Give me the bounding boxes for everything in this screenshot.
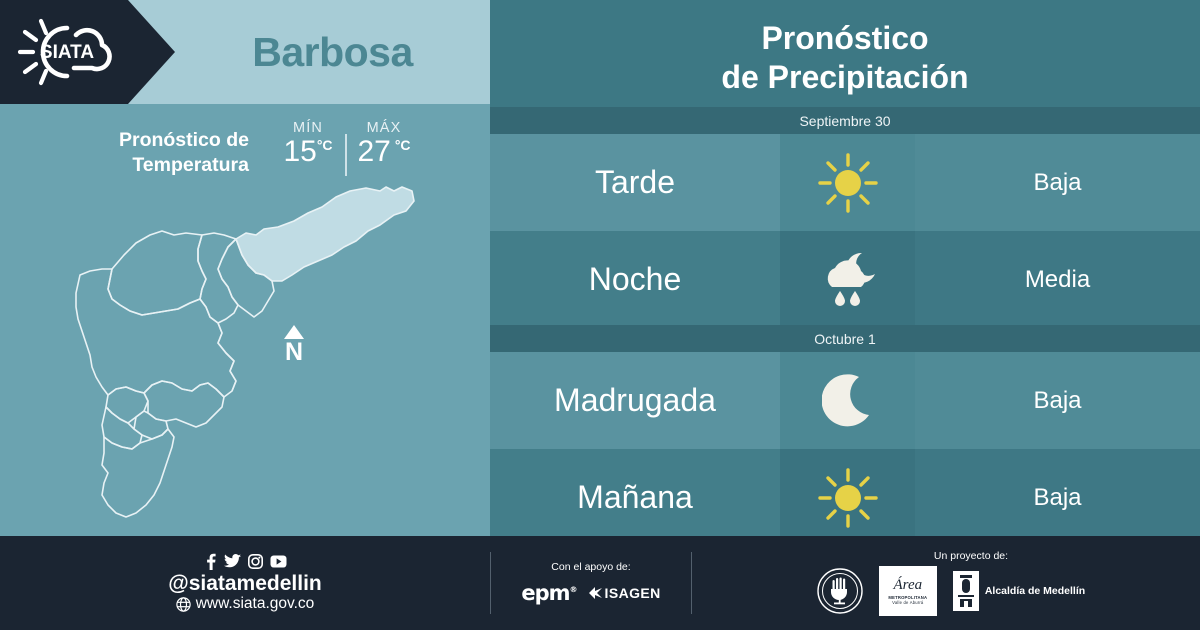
project-caption: Un proyecto de: [934, 550, 1008, 562]
siata-logo-icon: SIATA [14, 15, 122, 89]
temperature-max-value: 27°C [347, 137, 421, 167]
north-arrow-triangle-icon [284, 325, 304, 339]
epm-logo: epm® [521, 581, 576, 605]
youtube-icon[interactable] [270, 555, 287, 568]
map-svg [50, 185, 450, 535]
map-region-envigado [144, 381, 224, 427]
precipitation-title: Pronóstico de Precipitación [490, 10, 1200, 106]
forecast-row-madrugada: Madrugada Baja [490, 352, 1200, 449]
temperature-max-label: MÁX [347, 120, 421, 136]
support-block: Con el apoyo de: epm® ISAGEN [491, 536, 691, 630]
forecast-row-tarde: Tarde Baja [490, 134, 1200, 231]
area-logo-script: Área [894, 578, 923, 593]
map-region-barbosa [236, 187, 414, 281]
weather-forecast-poster: SIATA Barbosa Pronóstico de Temperatura … [0, 0, 1200, 630]
temperature-min-label: MÍN [271, 120, 345, 136]
temperature-title-line1: Pronóstico de [119, 129, 249, 151]
instagram-icon[interactable] [248, 554, 263, 569]
map-region-itagui [106, 387, 148, 423]
city-header: SIATA Barbosa [0, 0, 490, 104]
temperature-max-number: 27 [357, 135, 390, 168]
siata-brand-block: SIATA [0, 0, 175, 104]
temperature-max-unit: °C [395, 137, 411, 153]
project-logos: Área METROPOLITANA Valle de Aburrá [817, 566, 1085, 616]
page-title: Barbosa [175, 0, 490, 104]
temperature-title-line2: Temperatura [132, 154, 249, 176]
temperature-max: MÁX 27°C [347, 120, 421, 167]
alcaldia-logo-text: Alcaldía de Medellín [985, 585, 1085, 597]
temperature-values: MÍN 15°C MÁX 27°C [271, 118, 421, 176]
forecast-probability: Media [915, 231, 1200, 328]
temperature-min-value: 15°C [271, 137, 345, 167]
temperature-min-unit: °C [317, 137, 333, 153]
forecast-period-label: Mañana [490, 449, 780, 546]
forecast-period-label: Tarde [490, 134, 780, 231]
footer: @siatamedellin www.siata.gov.co Con el a… [0, 536, 1200, 630]
social-handle[interactable]: @siatamedellin [168, 572, 322, 596]
support-logos: epm® ISAGEN [521, 581, 660, 605]
website-url[interactable]: www.siata.gov.co [196, 595, 315, 613]
sun-icon [780, 134, 915, 231]
temperature-title: Pronóstico de Temperatura [69, 118, 249, 178]
epm-logo-text: epm [521, 581, 569, 605]
temperature-min-number: 15 [283, 135, 316, 168]
facebook-icon[interactable] [204, 553, 217, 570]
forecast-period-label: Noche [490, 231, 780, 328]
alcaldia-mark-icon [953, 571, 979, 611]
north-arrow-label: N [285, 340, 303, 365]
globe-icon [176, 597, 191, 612]
map-region-copacabana [198, 233, 238, 323]
moon-icon [780, 352, 915, 449]
precipitation-title-line1: Pronóstico [761, 19, 928, 58]
aburra-valley-map [50, 185, 450, 535]
forecast-period-label: Madrugada [490, 352, 780, 449]
date-band-september: Septiembre 30 [490, 107, 1200, 134]
temperature-panel: SIATA Barbosa Pronóstico de Temperatura … [0, 0, 490, 536]
isagen-mark-icon [588, 586, 603, 600]
alcaldia-logo: Alcaldía de Medellín [953, 571, 1085, 611]
precipitation-panel: Pronóstico de Precipitación Septiembre 3… [490, 0, 1200, 536]
map-region-caldas [102, 429, 174, 517]
forecast-probability: Baja [915, 352, 1200, 449]
project-block: Un proyecto de: Área [692, 536, 1200, 630]
moon-cloud-rain-icon [780, 231, 915, 328]
twitter-icon[interactable] [224, 554, 241, 569]
forecast-probability: Baja [915, 134, 1200, 231]
date-band-october: Octubre 1 [490, 325, 1200, 352]
isagen-logo: ISAGEN [588, 585, 661, 601]
sun-icon [780, 449, 915, 546]
social-block: @siatamedellin www.siata.gov.co [0, 536, 490, 630]
siata-logo-text: SIATA [40, 42, 94, 63]
area-metropolitana-logo: Área METROPOLITANA Valle de Aburrá [879, 566, 937, 616]
temperature-summary: Pronóstico de Temperatura MÍN 15°C MÁX 2… [0, 118, 490, 188]
precipitation-title-line2: de Precipitación [721, 58, 968, 97]
website-row[interactable]: www.siata.gov.co [176, 595, 315, 613]
area-logo-sub2: Valle de Aburrá [892, 600, 923, 605]
forecast-probability: Baja [915, 449, 1200, 546]
forecast-row-noche: Noche Media [490, 231, 1200, 328]
isagen-logo-text: ISAGEN [605, 585, 661, 601]
temperature-min: MÍN 15°C [271, 120, 345, 167]
support-caption: Con el apoyo de: [551, 561, 630, 573]
north-arrow: N [277, 325, 311, 375]
map-region-la-estrella [102, 407, 142, 449]
social-icons [204, 553, 287, 570]
forecast-row-manana: Mañana Baja [490, 449, 1200, 546]
map-boundary-extra [218, 323, 236, 391]
udea-seal-icon [817, 568, 863, 614]
map-region-medellin [76, 269, 236, 397]
